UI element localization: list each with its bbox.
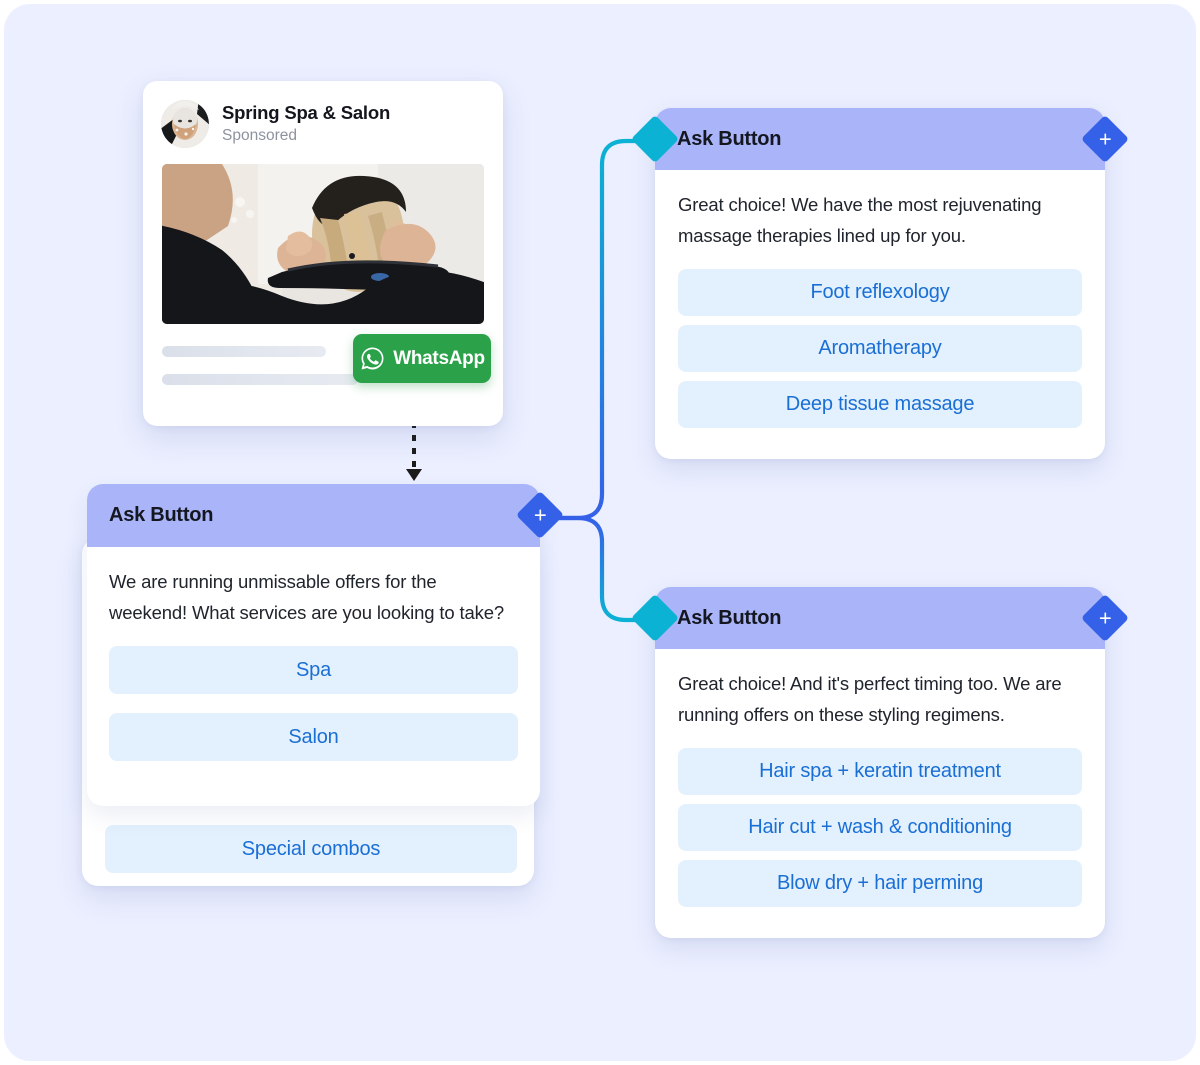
whatsapp-icon: [359, 345, 386, 372]
option-button[interactable]: Blow dry + hair perming: [678, 860, 1082, 907]
node-body: Great choice! And it's perfect timing to…: [655, 649, 1105, 938]
skeleton-line: [162, 374, 358, 385]
ad-hero-image: [162, 164, 484, 324]
plus-symbol: +: [1099, 607, 1112, 629]
option-button[interactable]: Salon: [109, 713, 518, 761]
flow-builder-canvas: Spring Spa & Salon Sponsored: [0, 0, 1200, 1065]
node-title: Ask Button: [109, 504, 213, 527]
node-header[interactable]: Ask Button +: [87, 484, 540, 547]
ad-footer: WhatsApp: [162, 340, 484, 412]
avatar: [161, 100, 209, 148]
option-button[interactable]: Special combos: [105, 825, 517, 873]
node-title: Ask Button: [677, 128, 781, 151]
ask-button-spa-node: Ask Button + Great choice! We have the m…: [655, 108, 1105, 459]
ask-button-root-node: Special combos Ask Button + We are runni…: [82, 484, 540, 886]
ad-header: Spring Spa & Salon Sponsored: [143, 81, 503, 148]
ad-business-name: Spring Spa & Salon: [222, 103, 390, 124]
ask-button-salon-node: Ask Button + Great choice! And it's perf…: [655, 587, 1105, 938]
node-options: Hair spa + keratin treatment Hair cut + …: [678, 748, 1082, 907]
node-body: Great choice! We have the most rejuvenat…: [655, 170, 1105, 459]
root-card-front-layer: Ask Button + We are running unmissable o…: [87, 484, 540, 806]
node-body: We are running unmissable offers for the…: [87, 547, 540, 794]
spa-facial-photo-icon: [161, 100, 209, 148]
option-button[interactable]: Aromatherapy: [678, 325, 1082, 372]
root-option-special-combos-wrap: Special combos: [105, 825, 517, 873]
salon-hair-straightening-photo-icon: [162, 164, 484, 324]
whatsapp-cta-button[interactable]: WhatsApp: [353, 334, 491, 383]
node-header[interactable]: Ask Button +: [655, 108, 1105, 170]
node-title: Ask Button: [677, 607, 781, 630]
node-message: Great choice! We have the most rejuvenat…: [678, 190, 1082, 251]
node-options: Spa Salon: [109, 646, 518, 761]
option-button[interactable]: Foot reflexology: [678, 269, 1082, 316]
plus-symbol: +: [534, 504, 547, 526]
node-message: Great choice! And it's perfect timing to…: [678, 669, 1082, 730]
skeleton-line: [162, 346, 326, 357]
ad-preview-card: Spring Spa & Salon Sponsored: [143, 81, 503, 426]
option-button[interactable]: Deep tissue massage: [678, 381, 1082, 428]
node-header[interactable]: Ask Button +: [655, 587, 1105, 649]
node-options: Foot reflexology Aromatherapy Deep tissu…: [678, 269, 1082, 428]
option-button[interactable]: Spa: [109, 646, 518, 694]
node-message: We are running unmissable offers for the…: [109, 567, 518, 628]
whatsapp-cta-label: WhatsApp: [393, 348, 485, 370]
plus-symbol: +: [1099, 128, 1112, 150]
ad-sponsored-label: Sponsored: [222, 127, 390, 144]
option-button[interactable]: Hair spa + keratin treatment: [678, 748, 1082, 795]
option-button[interactable]: Hair cut + wash & conditioning: [678, 804, 1082, 851]
